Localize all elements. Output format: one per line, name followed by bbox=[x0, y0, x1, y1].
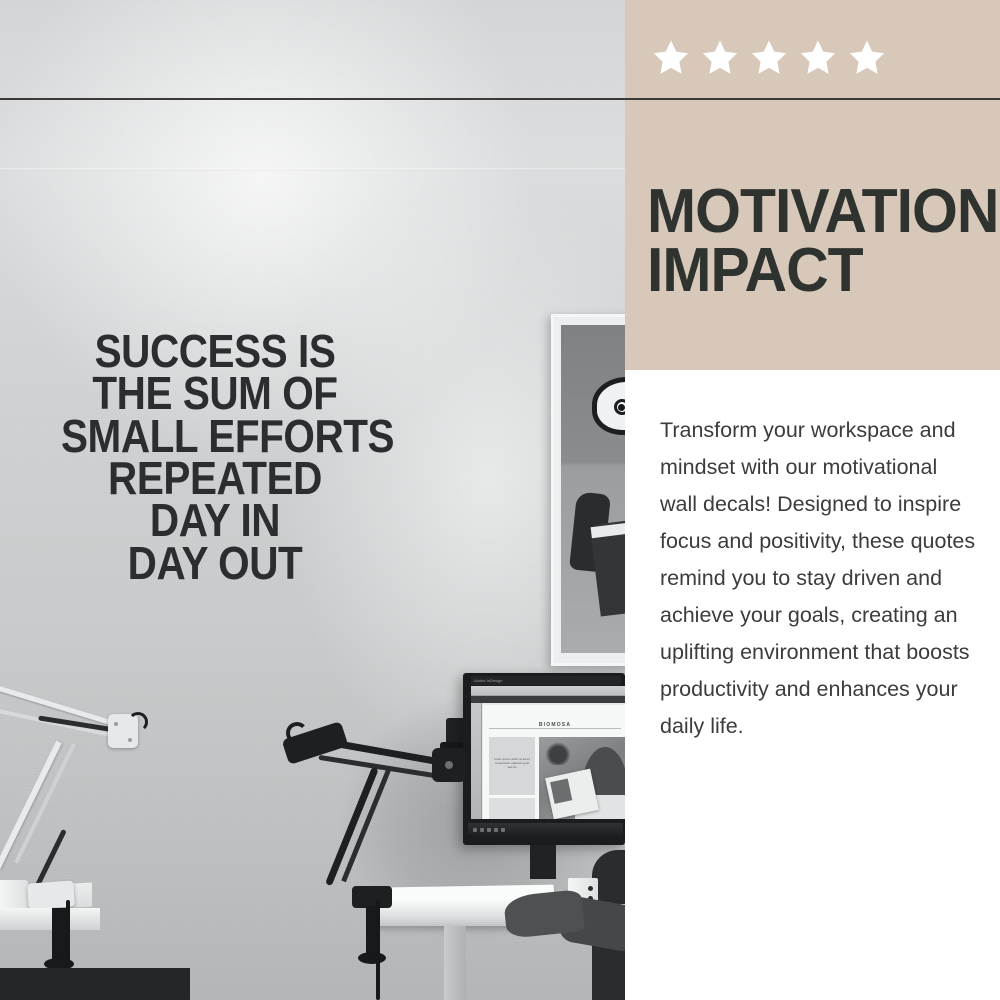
canvas-plant-shape bbox=[545, 739, 571, 765]
star-icon bbox=[799, 38, 837, 76]
decal-line-3: SMALL EFFORTS bbox=[61, 415, 369, 457]
app-canvas: BIOMOSA lorem ipsum dolor sit amet conse… bbox=[483, 705, 625, 819]
wall-decal-quote: SUCCESS IS THE SUM OF SMALL EFFORTS REPE… bbox=[61, 330, 369, 584]
star-rating bbox=[652, 38, 886, 76]
floor-dark-area bbox=[0, 968, 190, 1000]
poster-canvas: SUCCESS IS THE SUM OF SMALL EFFORTS REPE… bbox=[0, 0, 1000, 1000]
app-menubar bbox=[471, 686, 625, 696]
star-icon bbox=[848, 38, 886, 76]
page-title-line-2: IMPACT bbox=[647, 242, 975, 301]
top-divider-line bbox=[0, 98, 1000, 100]
decal-line-2: THE SUM OF bbox=[61, 372, 369, 414]
desk-left-edge bbox=[0, 908, 100, 930]
framed-poster bbox=[551, 314, 625, 666]
monitor-screen: BIOMOSA lorem ipsum dolor sit amet conse… bbox=[471, 686, 625, 819]
star-icon bbox=[750, 38, 788, 76]
decal-line-1: SUCCESS IS bbox=[61, 330, 369, 372]
canvas-brand-label: BIOMOSA bbox=[539, 722, 571, 728]
monitor-stand bbox=[530, 845, 556, 879]
canvas-card-b bbox=[489, 798, 535, 819]
content-column: MOTIVATIONAL IMPACT Transform your works… bbox=[625, 0, 1000, 1000]
decal-line-5: DAY IN bbox=[61, 499, 369, 541]
desk-right-leg bbox=[444, 926, 466, 1000]
heading-panel: MOTIVATIONAL IMPACT bbox=[625, 0, 1000, 370]
page-title: MOTIVATIONAL IMPACT bbox=[647, 183, 975, 301]
canvas-card-a-text: lorem ipsum dolor sit amet consectetur a… bbox=[492, 757, 532, 769]
monitor-titlebar: Adobe InDesign bbox=[471, 676, 621, 685]
decal-line-4: REPEATED bbox=[61, 457, 369, 499]
lamp-left-joint-dot-1 bbox=[114, 722, 118, 726]
lamp-right-joint-dot bbox=[445, 761, 453, 769]
star-icon bbox=[701, 38, 739, 76]
lamp-right-clamp-knob bbox=[358, 952, 386, 964]
app-toolbar bbox=[471, 696, 625, 703]
cartoon-pupil-shape bbox=[618, 404, 625, 411]
lamp-right-base bbox=[352, 886, 392, 908]
canvas-photo-cell bbox=[539, 737, 625, 819]
office-wall-decal-photo: SUCCESS IS THE SUM OF SMALL EFFORTS REPE… bbox=[0, 0, 625, 1000]
canvas-header: BIOMOSA bbox=[489, 713, 621, 729]
description-paragraph: Transform your workspace and mindset wit… bbox=[660, 412, 978, 745]
lamp-left-joint-dot-2 bbox=[128, 738, 132, 742]
app-toolpalette bbox=[471, 703, 482, 819]
star-icon bbox=[652, 38, 690, 76]
lamp-right-cord bbox=[376, 900, 380, 1000]
lamp-left-hook bbox=[128, 712, 148, 732]
canvas-magazine-image bbox=[550, 779, 572, 804]
computer-monitor: Adobe InDesign BIOMOSA lorem ipsum dolor… bbox=[463, 673, 625, 845]
canvas-magazine-shape bbox=[545, 769, 599, 819]
page-title-line-1: MOTIVATIONAL bbox=[647, 183, 975, 242]
decal-line-6: DAY OUT bbox=[61, 542, 369, 584]
monitor-taskbar-icons bbox=[473, 828, 505, 832]
poster-artwork bbox=[561, 325, 625, 653]
